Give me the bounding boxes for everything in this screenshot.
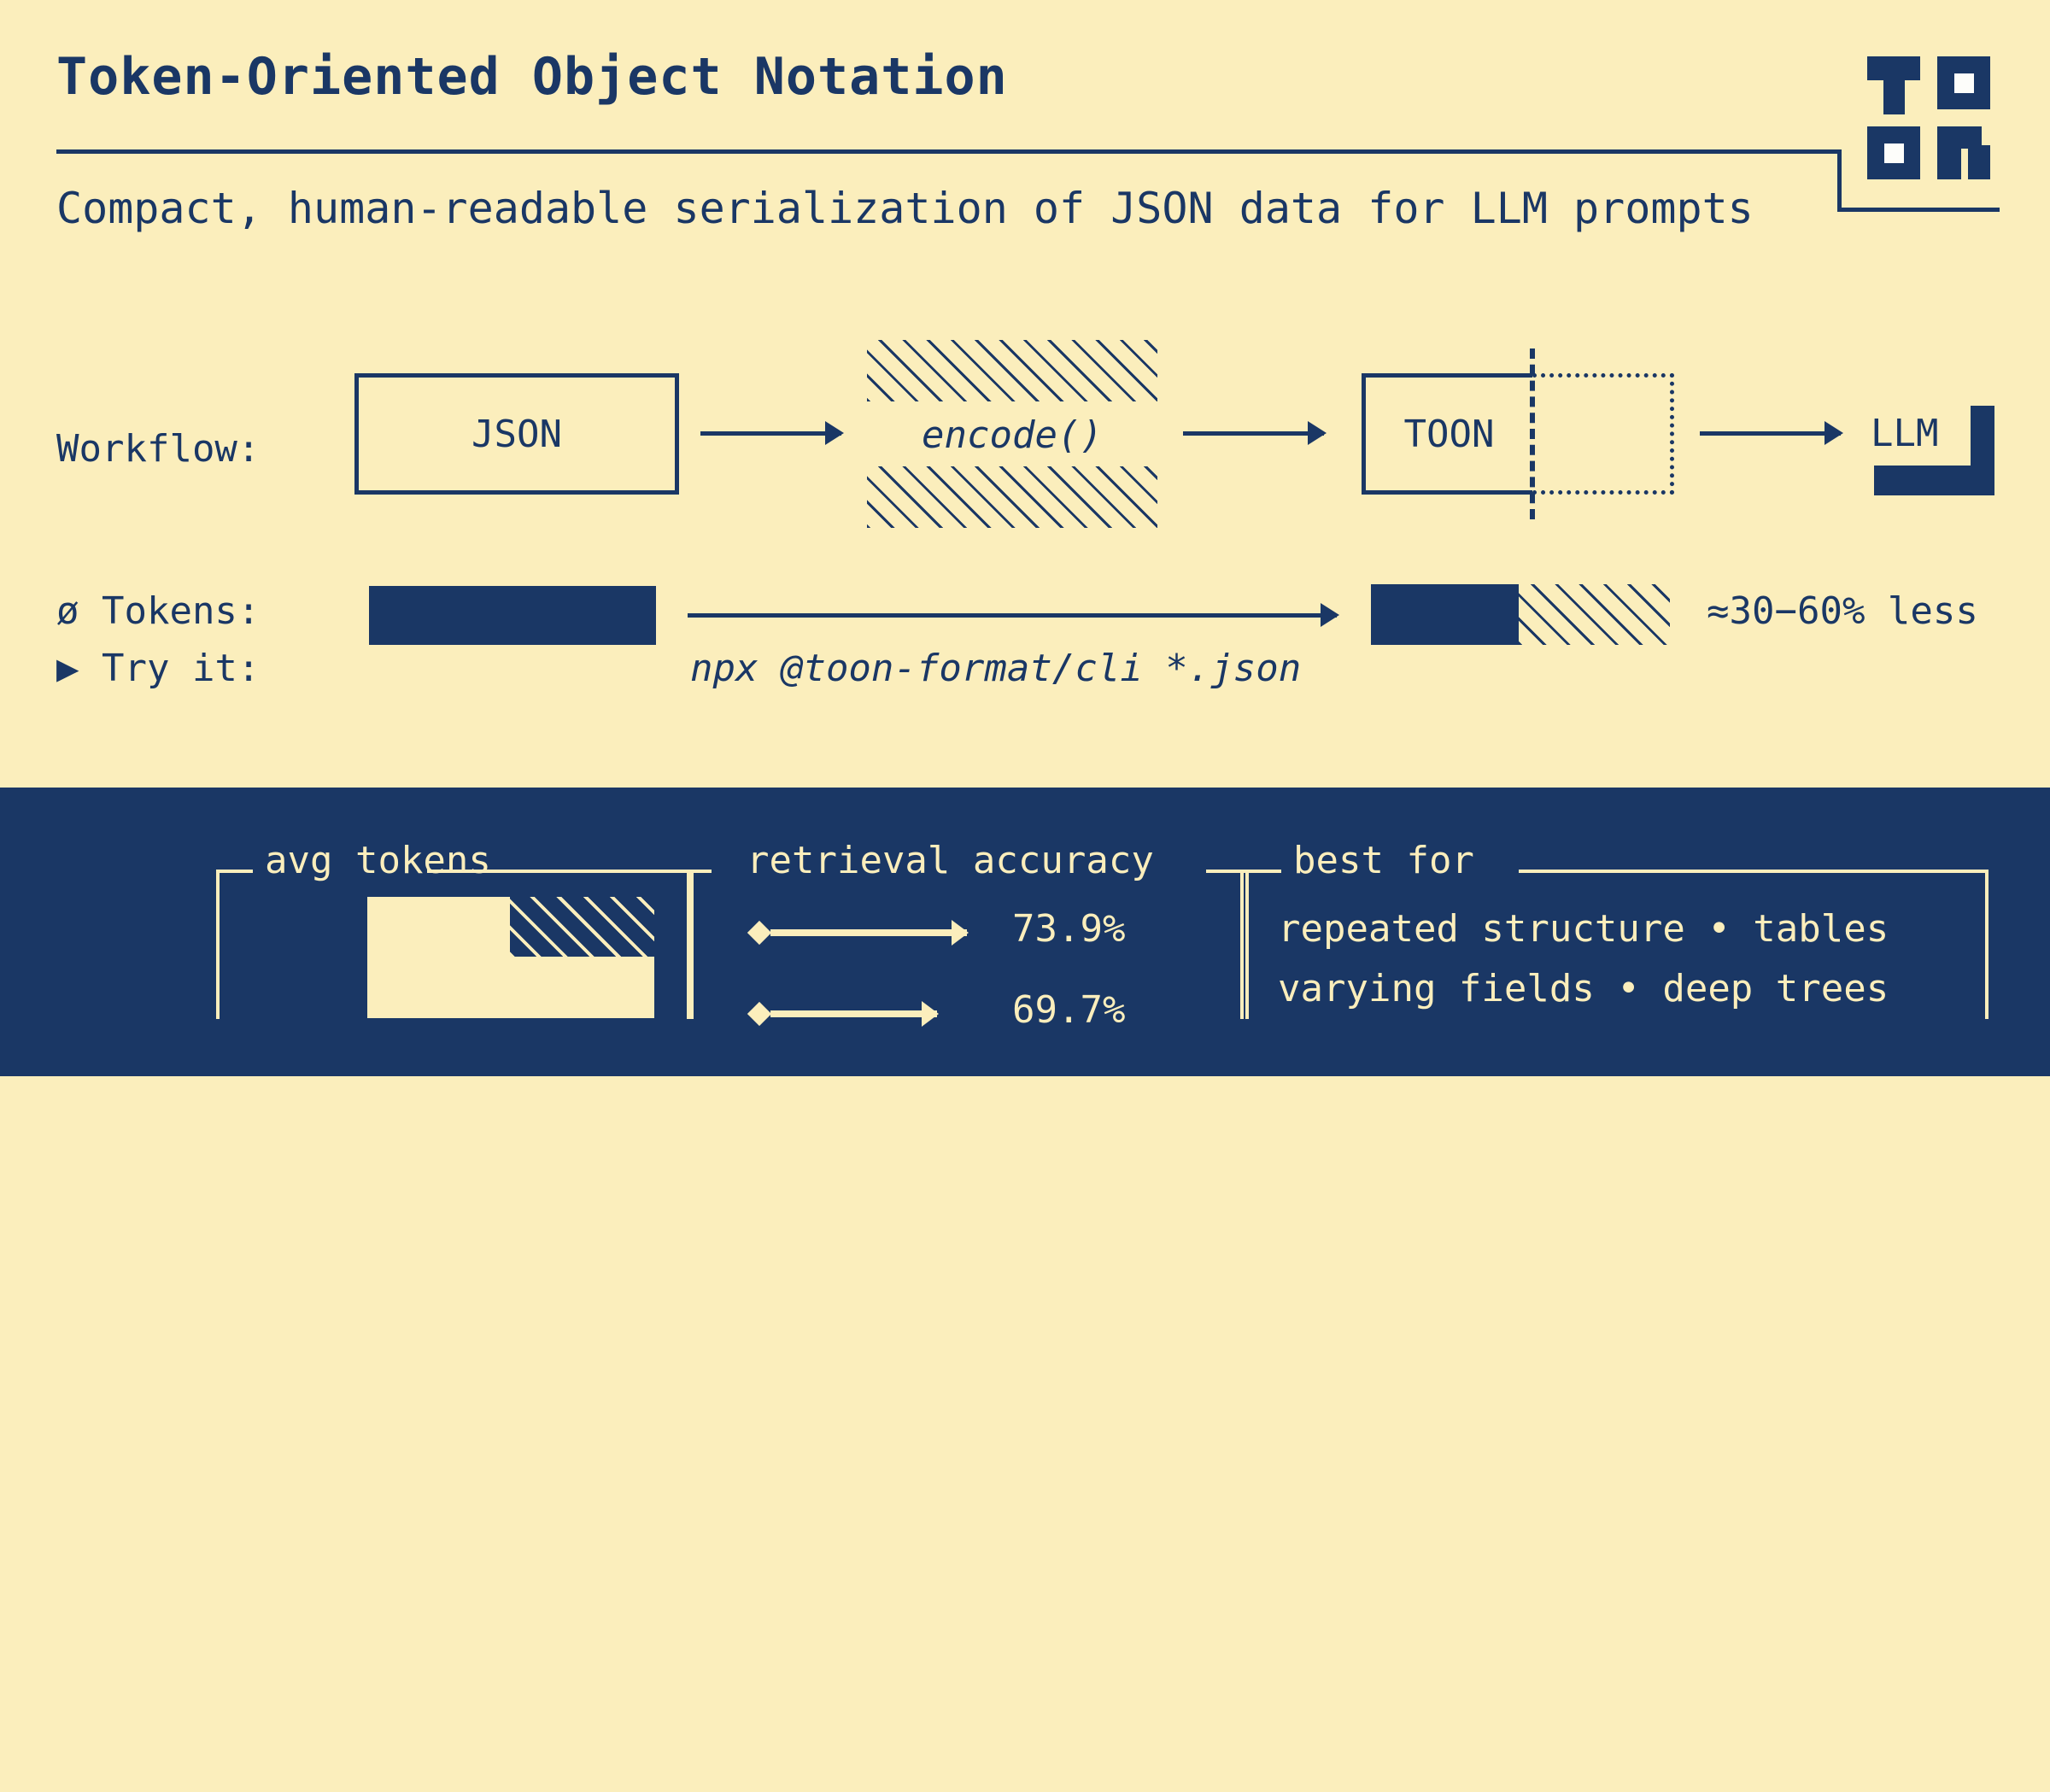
toon-logo [1867, 56, 1995, 184]
best-for-border-right [1985, 870, 1988, 1019]
tokens-bar-toon-solid [1371, 584, 1519, 645]
retrieval-bar-json [770, 1010, 937, 1017]
workflow-node-toon: TOON [1362, 373, 1532, 495]
workflow-node-llm-label: LLM [1871, 412, 1938, 455]
logo-letter-n-right-icon [1968, 145, 1990, 179]
workflow-arrow-3-icon [1700, 431, 1841, 436]
llm-corner-horizontal-icon [1874, 466, 1994, 495]
panel-row-label-json: JSON [56, 1748, 147, 1792]
best-for-border-top-left [1217, 870, 1262, 873]
avg-tokens-bar-toon-hatched [510, 897, 654, 957]
panel-row-label-toon: TOON [56, 1689, 147, 1732]
poster-canvas: Token-Oriented Object Notation Compact, … [0, 0, 2050, 1076]
retrieval-value-toon: 73.9% [1012, 907, 1125, 951]
panel-row-arrow-toon-icon: → [210, 1691, 231, 1731]
best-for-border-left [1240, 870, 1244, 1019]
tokens-label: ø Tokens: [56, 589, 260, 633]
try-it-label: ▶ Try it: [56, 647, 260, 690]
workflow-arrow-1-icon [700, 431, 841, 436]
panel-row-arrow-json-icon: → [210, 1751, 231, 1790]
tokens-savings-note: ≈30−60% less [1707, 589, 1978, 633]
tokens-bar-json [369, 586, 656, 645]
workflow-node-json-label: JSON [471, 413, 562, 456]
page-title: Token-Oriented Object Notation [56, 47, 1008, 107]
retrieval-border-right [1245, 870, 1249, 1019]
page-subtitle: Compact, human-readable serialization of… [56, 184, 1754, 233]
avg-tokens-bar-toon-solid [367, 897, 510, 957]
retrieval-border-top-left [671, 870, 712, 873]
tokens-comparison-arrow-icon [688, 613, 1337, 618]
encode-hatch-bottom [867, 466, 1157, 528]
workflow-node-toon-ghost [1532, 373, 1674, 495]
avg-tokens-border-left [216, 870, 220, 1019]
workflow-node-encode-label: encode() [867, 405, 1157, 465]
best-for-line-2: varying fields • deep trees [1278, 967, 1889, 1010]
workflow-node-encode: encode() [867, 340, 1157, 528]
retrieval-bar-toon [770, 929, 967, 936]
retrieval-value-json: 69.7% [1012, 988, 1125, 1032]
retrieval-legend: retrieval accuracy [735, 839, 1166, 882]
workflow-toon-divider-icon [1530, 348, 1535, 519]
avg-tokens-bar-json [367, 957, 654, 1018]
header-rule-top [56, 149, 1842, 154]
logo-letter-o-second-icon [1867, 126, 1920, 179]
logo-letter-o-first-icon [1937, 56, 1990, 109]
best-for-legend: best for [1281, 839, 1486, 882]
retrieval-marker-toon-icon [747, 921, 771, 945]
install-command[interactable]: npx @toon-format/cli *.json [690, 647, 1301, 690]
workflow-node-toon-label: TOON [1404, 413, 1495, 456]
avg-tokens-legend: avg tokens [253, 839, 503, 882]
comparison-panel: TOON → JSON → avg tokens retrieval accur… [0, 788, 2050, 1076]
header-rule-bottom [1837, 208, 2000, 212]
logo-letter-t-icon [1867, 56, 1920, 80]
header-rule-step [1837, 149, 1842, 212]
logo-letter-t-stem-icon [1883, 80, 1905, 114]
workflow-label: Workflow: [56, 427, 260, 471]
best-for-line-1: repeated structure • tables [1278, 907, 1889, 951]
retrieval-marker-json-icon [747, 1002, 771, 1026]
retrieval-border-left [690, 870, 694, 1019]
best-for-border-top-right [1519, 870, 1988, 873]
tokens-bar-toon-savings [1519, 584, 1670, 645]
workflow-node-json: JSON [354, 373, 679, 495]
avg-tokens-border-top-right [427, 870, 690, 873]
workflow-arrow-2-icon [1183, 431, 1324, 436]
encode-hatch-top [867, 340, 1157, 401]
